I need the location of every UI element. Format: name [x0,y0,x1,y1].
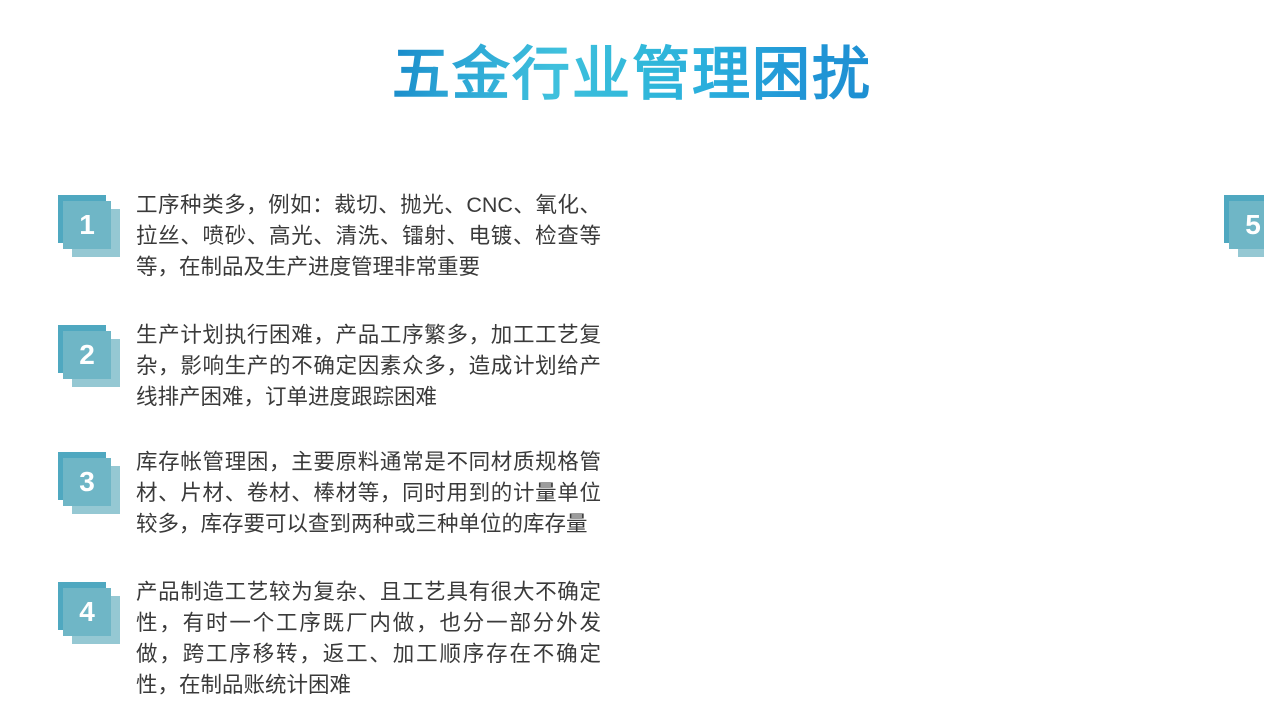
number-badge-5: 5 [1224,195,1264,261]
list-item-text: 生产计划执行困难，产品工序繁多，加工工艺复杂，影响生产的不确定因素众多，造成计划… [136,316,601,414]
badge-number: 3 [79,468,95,496]
left-column: 1 工序种类多，例如：裁切、抛光、CNC、氧化、拉丝、喷砂、高光、清洗、镭射、电… [0,186,619,696]
badge-number: 2 [79,341,95,369]
title-container: 五金行业管理困扰 [0,42,1264,109]
page-title: 五金行业管理困扰 [392,42,872,109]
badge-main-square: 1 [63,201,111,249]
list-item-text: 产品制造工艺较为复杂、且工艺具有很大不确定性，有时一个工序既厂内做，也分一部分外… [136,573,601,702]
list-item: 2 生产计划执行困难，产品工序繁多，加工工艺复杂，影响生产的不确定因素众多，造成… [58,316,601,414]
right-column: 5 产品中各组件制造周期长短不一，且在生产过程中经常有边角料产生，部分边角料不可… [561,186,1264,696]
list-item: 4 产品制造工艺较为复杂、且工艺具有很大不确定性，有时一个工序既厂内做，也分一部… [58,573,601,702]
content-columns: 1 工序种类多，例如：裁切、抛光、CNC、氧化、拉丝、喷砂、高光、清洗、镭射、电… [0,186,1264,696]
badge-main-square: 2 [63,331,111,379]
badge-main-square: 4 [63,588,111,636]
badge-number: 5 [1245,211,1261,239]
list-item-text: 库存帐管理困，主要原料通常是不同材质规格管材、片材、卷材、棒材等，同时用到的计量… [136,443,601,541]
number-badge-1: 1 [58,195,124,261]
list-item-text: 工序种类多，例如：裁切、抛光、CNC、氧化、拉丝、喷砂、高光、清洗、镭射、电镀、… [136,186,601,284]
slide-root: 五金行业管理困扰 1 工序种类多，例如：裁切、抛光、CNC、氧化、拉丝、喷砂、高… [0,0,1264,710]
number-badge-2: 2 [58,325,124,391]
list-item: 3 库存帐管理困，主要原料通常是不同材质规格管材、片材、卷材、棒材等，同时用到的… [58,443,601,541]
number-badge-4: 4 [58,582,124,648]
badge-main-square: 5 [1229,201,1264,249]
badge-number: 1 [79,211,95,239]
badge-number: 4 [79,598,95,626]
list-item: 1 工序种类多，例如：裁切、抛光、CNC、氧化、拉丝、喷砂、高光、清洗、镭射、电… [58,186,601,284]
number-badge-3: 3 [58,452,124,518]
badge-main-square: 3 [63,458,111,506]
